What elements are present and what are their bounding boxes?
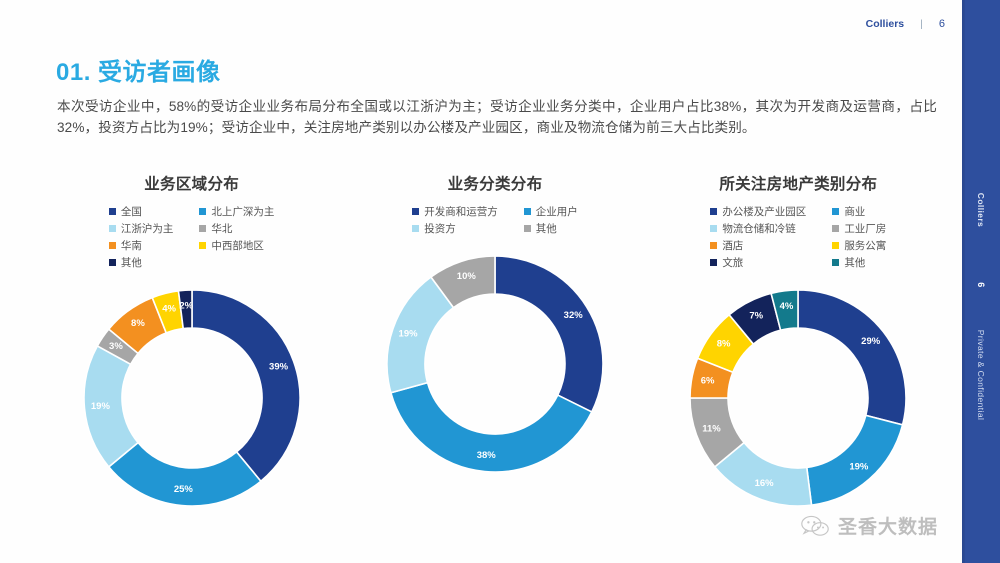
legend-swatch — [832, 208, 839, 215]
legend-swatch — [710, 208, 717, 215]
legend-label: 服务公寓 — [844, 238, 886, 253]
slice-label: 11% — [703, 424, 722, 435]
legend-item: 其他 — [109, 255, 174, 270]
charts-row: 业务区域分布 全国北上广深为主江浙沪为主华北华南中西部地区其他 39%25%19… — [40, 172, 950, 542]
legend-swatch — [199, 225, 206, 232]
chart-legend: 办公楼及产业园区商业物流仓储和冷链工业厂房酒店服务公寓文旅其他 — [710, 204, 886, 270]
legend-item: 华北 — [199, 221, 274, 236]
slice-label: 29% — [861, 336, 881, 347]
slice-label: 19% — [91, 401, 111, 412]
donut-chart: 39%25%19%3%8%4%2% — [72, 278, 312, 518]
legend-label: 工业厂房 — [844, 221, 886, 236]
slice-label: 6% — [701, 375, 715, 386]
watermark: 圣香大数据 — [800, 512, 938, 539]
legend-swatch — [832, 259, 839, 266]
legend-item: 物流仓储和冷链 — [710, 221, 806, 236]
donut-slice[interactable] — [192, 290, 300, 481]
legend-item: 服务公寓 — [832, 238, 886, 253]
legend-swatch — [109, 208, 116, 215]
slice-label: 16% — [755, 478, 775, 489]
slice-label: 25% — [173, 484, 193, 495]
legend-item: 酒店 — [710, 238, 806, 253]
legend-item: 江浙沪为主 — [109, 221, 174, 236]
legend-item: 全国 — [109, 204, 174, 219]
legend-label: 酒店 — [722, 238, 743, 253]
chart-block-0: 业务区域分布 全国北上广深为主江浙沪为主华北华南中西部地区其他 39%25%19… — [40, 172, 343, 542]
legend-swatch — [524, 208, 531, 215]
body-paragraph: 本次受访企业中，58%的受访企业业务布局分布全国或以江浙沪为主；受访企业业务分类… — [57, 96, 937, 138]
header-page-number: 6 — [939, 18, 945, 30]
slice-label: 19% — [399, 328, 419, 339]
right-rail: Colliers 6 Private & Confidential — [962, 0, 1000, 563]
legend-item: 其他 — [524, 221, 578, 236]
slice-label: 4% — [162, 303, 176, 314]
slide: Colliers | 6 01. 受访者画像 本次受访企业中，58%的受访企业业… — [0, 0, 1000, 563]
chart-legend: 开发商和运营方企业用户投资方其他 — [412, 204, 578, 236]
chart-title: 业务分类分布 — [448, 172, 543, 194]
legend-swatch — [832, 225, 839, 232]
legend-swatch — [412, 208, 419, 215]
legend-label: 北上广深为主 — [211, 204, 274, 219]
legend-label: 物流仓储和冷链 — [722, 221, 796, 236]
legend-swatch — [710, 225, 717, 232]
legend-swatch — [710, 259, 717, 266]
legend-item: 中西部地区 — [199, 238, 274, 253]
legend-swatch — [199, 242, 206, 249]
slice-label: 2% — [179, 301, 193, 312]
rail-inner: Colliers 6 Private & Confidential — [965, 0, 997, 563]
slice-label: 19% — [850, 462, 870, 473]
legend-swatch — [710, 242, 717, 249]
donut-svg: 29%19%16%11%6%8%7%4% — [678, 278, 918, 518]
watermark-text: 圣香大数据 — [838, 512, 938, 539]
wechat-icon — [800, 515, 830, 537]
legend-swatch — [524, 225, 531, 232]
legend-label: 文旅 — [722, 255, 743, 270]
legend-label: 开发商和运营方 — [424, 204, 498, 219]
legend-label: 投资方 — [424, 221, 456, 236]
chart-legend: 全国北上广深为主江浙沪为主华北华南中西部地区其他 — [109, 204, 275, 270]
legend-label: 商业 — [844, 204, 865, 219]
legend-label: 中西部地区 — [211, 238, 264, 253]
rail-page-number: 6 — [976, 282, 986, 287]
legend-label: 其他 — [121, 255, 142, 270]
legend-item: 商业 — [832, 204, 886, 219]
legend-swatch — [412, 225, 419, 232]
donut-svg: 32%38%19%10% — [375, 244, 615, 484]
donut-chart: 29%19%16%11%6%8%7%4% — [678, 278, 918, 518]
legend-label: 华南 — [121, 238, 142, 253]
legend-swatch — [832, 242, 839, 249]
chart-block-1: 业务分类分布 开发商和运营方企业用户投资方其他 32%38%19%10% — [343, 172, 646, 542]
legend-item: 其他 — [832, 255, 886, 270]
chart-block-2: 所关注房地产类别分布 办公楼及产业园区商业物流仓储和冷链工业厂房酒店服务公寓文旅… — [647, 172, 950, 542]
legend-item: 北上广深为主 — [199, 204, 274, 219]
legend-item: 工业厂房 — [832, 221, 886, 236]
slice-label: 32% — [564, 310, 584, 321]
legend-label: 全国 — [121, 204, 142, 219]
legend-item: 投资方 — [412, 221, 498, 236]
legend-label: 江浙沪为主 — [121, 221, 174, 236]
legend-label: 办公楼及产业园区 — [722, 204, 806, 219]
slice-label: 39% — [269, 361, 289, 372]
slice-label: 7% — [750, 311, 764, 322]
page-title: 01. 受访者画像 — [56, 52, 221, 87]
legend-label: 其他 — [844, 255, 865, 270]
chart-title: 所关注房地产类别分布 — [719, 172, 877, 194]
donut-svg: 39%25%19%3%8%4%2% — [72, 278, 312, 518]
chart-title: 业务区域分布 — [144, 172, 239, 194]
slice-label: 8% — [131, 318, 145, 329]
donut-slice[interactable] — [798, 290, 906, 425]
legend-swatch — [109, 259, 116, 266]
legend-label: 其他 — [536, 221, 557, 236]
legend-label: 企业用户 — [536, 204, 578, 219]
legend-swatch — [199, 208, 206, 215]
legend-item: 企业用户 — [524, 204, 578, 219]
legend-item: 开发商和运营方 — [412, 204, 498, 219]
header-divider: | — [920, 18, 923, 30]
legend-label: 华北 — [211, 221, 232, 236]
slice-label: 4% — [780, 301, 794, 312]
slice-label: 38% — [477, 450, 497, 461]
rail-brand-label: Colliers — [976, 193, 986, 227]
slide-header: Colliers | 6 — [866, 18, 945, 30]
slice-label: 8% — [717, 338, 731, 349]
legend-item: 办公楼及产业园区 — [710, 204, 806, 219]
brand-label: Colliers — [866, 18, 905, 30]
donut-chart: 32%38%19%10% — [375, 244, 615, 484]
legend-swatch — [109, 242, 116, 249]
donut-slice[interactable] — [807, 415, 903, 505]
slice-label: 3% — [109, 341, 123, 352]
legend-item: 文旅 — [710, 255, 806, 270]
legend-swatch — [109, 225, 116, 232]
legend-item: 华南 — [109, 238, 174, 253]
donut-slice[interactable] — [495, 256, 603, 412]
rail-confidential-label: Private & Confidential — [976, 330, 986, 421]
slice-label: 10% — [457, 271, 477, 282]
